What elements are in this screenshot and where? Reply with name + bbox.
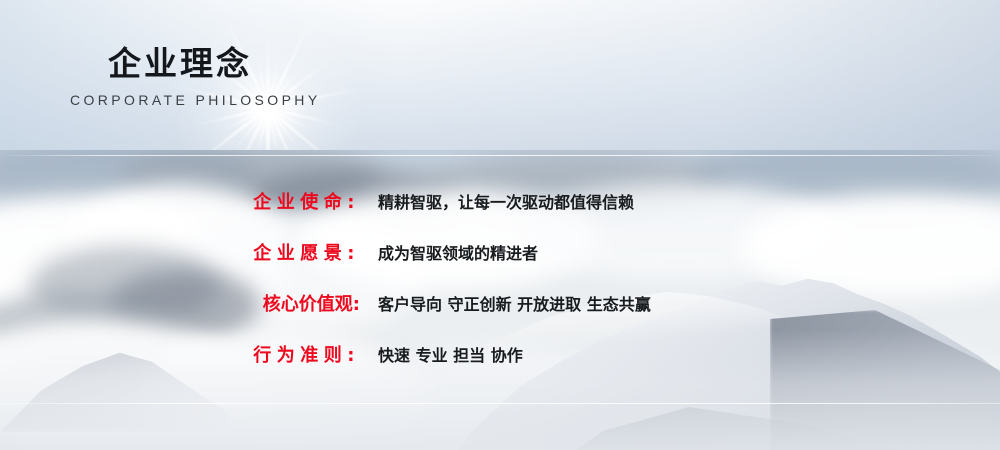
row-label-vision: 企业愿景:: [0, 239, 360, 265]
philosophy-row-core-values: 核心价值观: 客户导向 守正创新 开放进取 生态共赢: [0, 290, 1000, 341]
divider-bottom: [0, 403, 1000, 404]
page-title-block: 企业理念 CORPORATE PHILOSOPHY: [70, 46, 490, 108]
page-title: 企业理念: [108, 46, 490, 82]
row-value-core-values: 客户导向 守正创新 开放进取 生态共赢: [360, 291, 651, 315]
philosophy-row-vision: 企业愿景: 成为智驱领域的精进者: [0, 239, 1000, 290]
slide-canvas: 企业理念 CORPORATE PHILOSOPHY 企业使命: 精耕智驱，让每一…: [0, 0, 1000, 450]
philosophy-row-mission: 企业使命: 精耕智驱，让每一次驱动都值得信赖: [0, 188, 1000, 239]
row-label-mission: 企业使命:: [0, 188, 360, 214]
row-value-vision: 成为智驱领域的精进者: [360, 240, 538, 264]
divider-top: [0, 155, 1000, 156]
philosophy-row-code-of-conduct: 行为准则: 快速 专业 担当 协作: [0, 341, 1000, 392]
row-value-mission: 精耕智驱，让每一次驱动都值得信赖: [360, 189, 634, 213]
philosophy-list: 企业使命: 精耕智驱，让每一次驱动都值得信赖 企业愿景: 成为智驱领域的精进者 …: [0, 188, 1000, 392]
row-label-code-of-conduct: 行为准则:: [0, 341, 360, 367]
row-label-core-values: 核心价值观:: [0, 290, 360, 316]
row-value-code-of-conduct: 快速 专业 担当 协作: [360, 342, 523, 366]
page-subtitle: CORPORATE PHILOSOPHY: [70, 92, 490, 108]
